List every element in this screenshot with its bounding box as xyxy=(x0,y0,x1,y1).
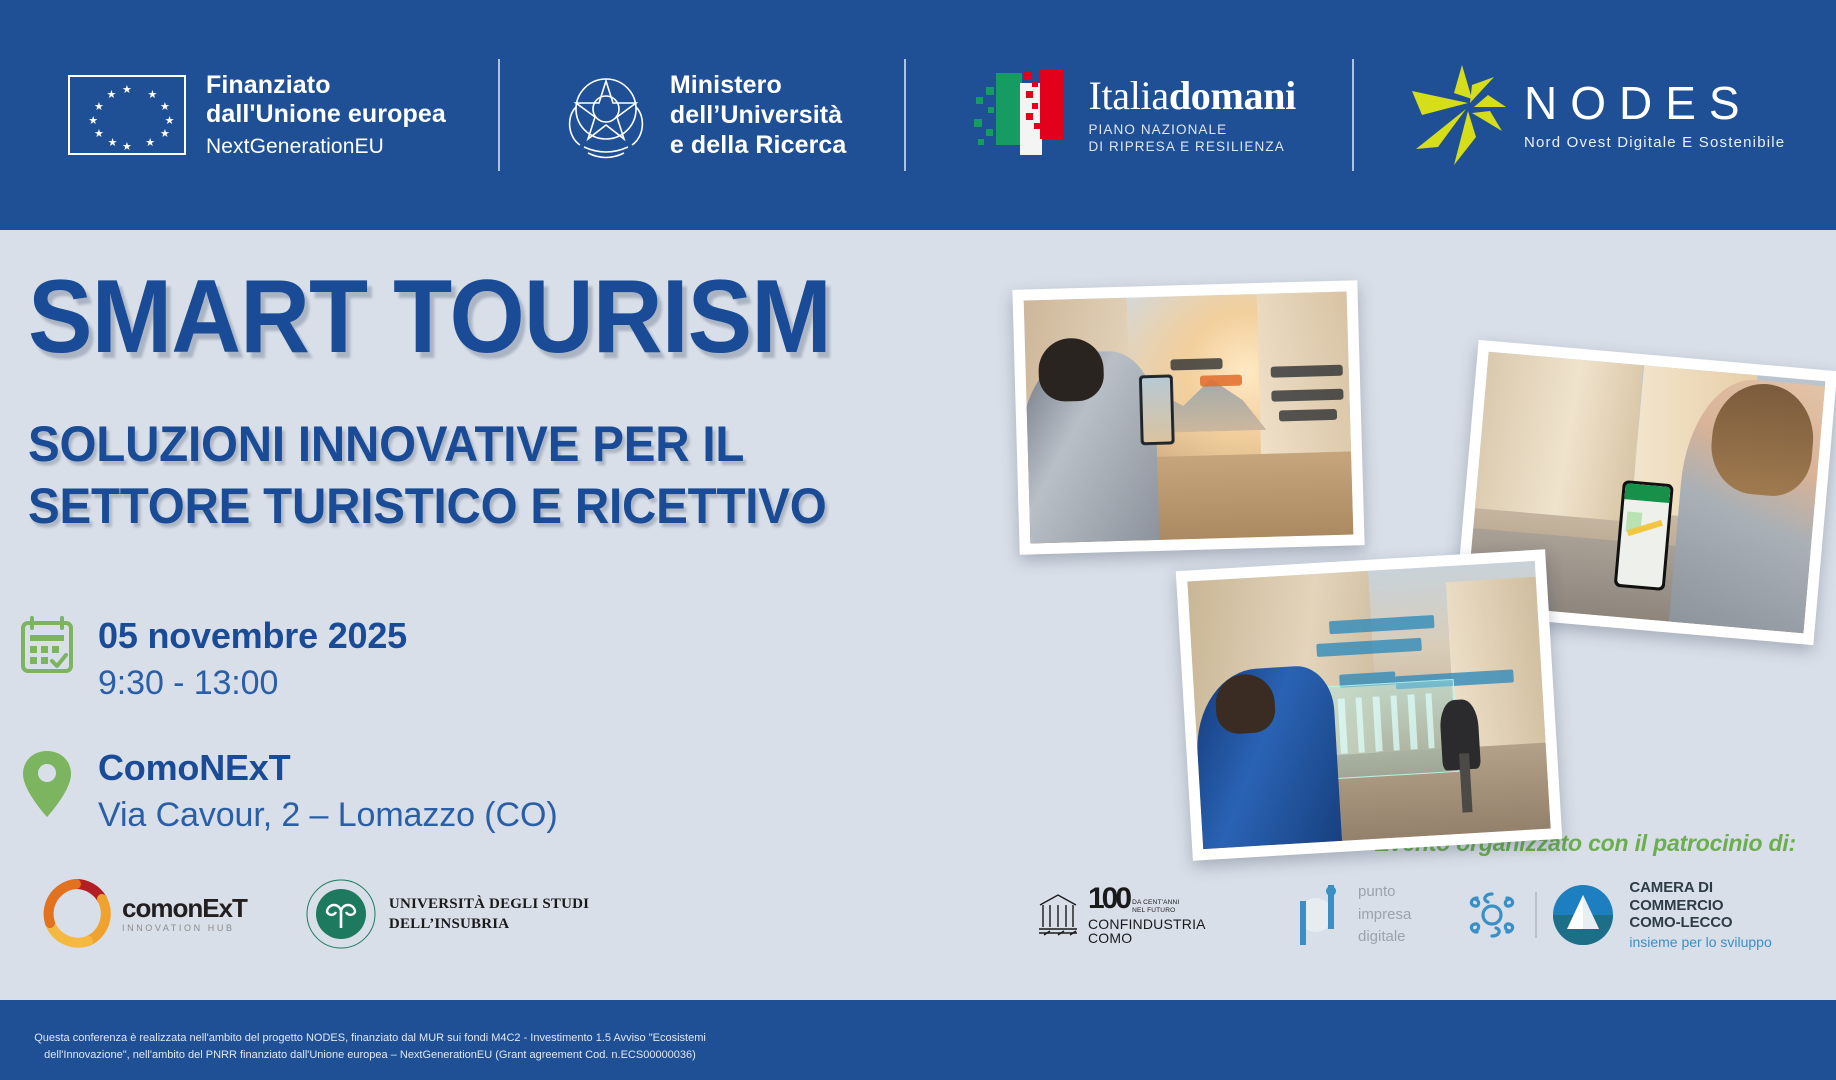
eu-funding-logo: ★ ★ ★ ★ ★ ★ ★ ★ ★ ★ ★ ★ Finanziato dall'… xyxy=(68,55,446,175)
calendar-icon xyxy=(18,615,76,689)
ministero-line2: dell’Università xyxy=(670,100,847,130)
footer-line-2: dell'Innovazione", nell'ambito del PNRR … xyxy=(0,1047,740,1064)
nodes-star-icon xyxy=(1410,63,1510,167)
italiadomani-flag-icon xyxy=(962,67,1074,163)
subtitle-line-2: SETTORE TURISTICO E RICETTIVO xyxy=(28,475,827,537)
funding-logos-band: ★ ★ ★ ★ ★ ★ ★ ★ ★ ★ ★ ★ Finanziato dall'… xyxy=(0,0,1836,230)
photo-ar-lakeside-street xyxy=(1012,280,1364,555)
page-subtitle: SOLUZIONI INNOVATIVE PER IL SETTORE TURI… xyxy=(28,413,827,537)
repubblica-italiana-emblem-icon xyxy=(560,61,652,169)
cciaa-line3: insieme per lo sviluppo xyxy=(1629,934,1796,951)
band-divider-2 xyxy=(904,59,906,171)
photo-ar-hologram-ruins xyxy=(1176,549,1563,860)
comonext-logo: comonExT INNOVATION HUB xyxy=(40,878,247,950)
italiadomani-sub2: DI RIPRESA E RESILIENZA xyxy=(1088,138,1296,155)
organizer-logos: comonExT INNOVATION HUB U xyxy=(40,878,589,950)
venue-name: ComoNExT xyxy=(98,747,558,788)
italiadomani-pnrr-logo: Italiadomani PIANO NAZIONALE DI RIPRESA … xyxy=(962,55,1296,175)
comonext-wordmark: comonExT xyxy=(122,895,247,921)
event-time: 9:30 - 13:00 xyxy=(98,662,407,705)
eu-line1: Finanziato xyxy=(206,71,331,99)
page-title: SMART TOURISM xyxy=(28,265,831,369)
event-date-row: 05 novembre 2025 9:30 - 13:00 xyxy=(18,615,558,705)
photo-collage xyxy=(1016,260,1826,920)
insubria-seal-icon xyxy=(305,878,377,950)
nodes-tagline: Nord Ovest Digitale E Sostenibile xyxy=(1524,134,1785,151)
event-date: 05 novembre 2025 xyxy=(98,615,407,656)
location-pin-icon xyxy=(18,747,76,821)
universita-insubria-logo: UNIVERSITÀ DEGLI STUDI DELL’INSUBRIA xyxy=(305,878,589,950)
comonext-tagline: INNOVATION HUB xyxy=(122,924,247,933)
event-details: 05 novembre 2025 9:30 - 13:00 ComoNExT V… xyxy=(18,615,558,879)
ministero-line1: Ministero xyxy=(670,70,847,100)
nodes-logo: NODES Nord Ovest Digitale E Sostenibile xyxy=(1410,55,1785,175)
event-poster: ★ ★ ★ ★ ★ ★ ★ ★ ★ ★ ★ ★ Finanziato dall'… xyxy=(0,0,1836,1080)
pid-line3: digitale xyxy=(1358,926,1411,949)
venue-address: Via Cavour, 2 – Lomazzo (CO) xyxy=(98,794,558,837)
confindustria-label: CONFINDUSTRIA COMO xyxy=(1088,917,1244,945)
italiadomani-sub1: PIANO NAZIONALE xyxy=(1088,121,1296,138)
subtitle-line-1: SOLUZIONI INNOVATIVE PER IL xyxy=(28,413,827,475)
event-venue-row: ComoNExT Via Cavour, 2 – Lomazzo (CO) xyxy=(18,747,558,837)
footer-disclaimer: Questa conferenza è realizzata nell'ambi… xyxy=(0,1030,740,1064)
ministero-universita-ricerca-logo: Ministero dell’Università e della Ricerc… xyxy=(560,55,847,175)
italiadomani-name-bold: domani xyxy=(1169,73,1296,118)
nodes-wordmark: NODES xyxy=(1524,80,1785,126)
insubria-line2: DELL’INSUBRIA xyxy=(389,914,589,934)
italiadomani-name-light: Italia xyxy=(1088,73,1168,118)
eu-flag-icon: ★ ★ ★ ★ ★ ★ ★ ★ ★ ★ ★ ★ xyxy=(68,75,186,155)
insubria-line1: UNIVERSITÀ DEGLI STUDI xyxy=(389,894,589,914)
eu-line2: dall'Unione europea xyxy=(206,100,446,128)
band-divider-1 xyxy=(498,59,500,171)
ministero-line3: e della Ricerca xyxy=(670,130,847,160)
band-divider-3 xyxy=(1352,59,1354,171)
eu-line3: NextGenerationEU xyxy=(206,135,446,159)
comonext-ring-icon xyxy=(40,878,112,950)
footer-line-1: Questa conferenza è realizzata nell'ambi… xyxy=(0,1030,740,1047)
poster-main: SMART TOURISM SOLUZIONI INNOVATIVE PER I… xyxy=(0,230,1836,1000)
